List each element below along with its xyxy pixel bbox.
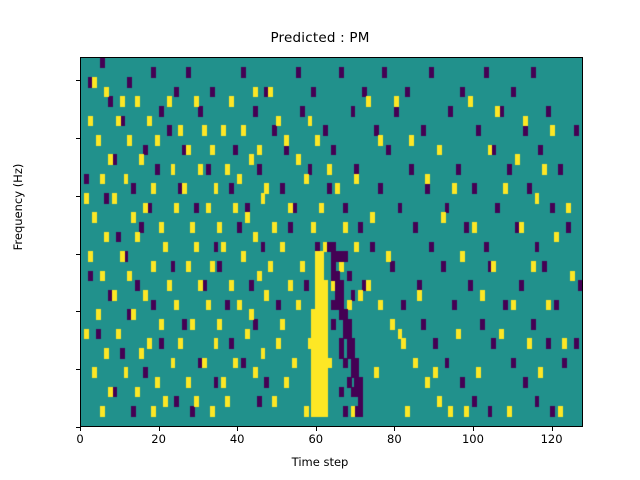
y-tick-mark (76, 196, 80, 197)
x-tick-label: 60 (286, 432, 346, 446)
x-tick-label: 0 (50, 432, 110, 446)
y-tick-mark (76, 369, 80, 370)
y-tick-mark (76, 254, 80, 255)
heatmap-image (81, 58, 582, 426)
y-axis-label: Frequency (Hz) (11, 97, 25, 317)
figure-canvas: Predicted : PM Frequency (Hz) 0200004000… (0, 0, 640, 480)
x-tick-label: 100 (443, 432, 503, 446)
y-tick-mark (76, 80, 80, 81)
x-tick-mark (80, 427, 81, 431)
y-tick-mark (76, 138, 80, 139)
x-tick-mark (237, 427, 238, 431)
x-tick-label: 40 (207, 432, 267, 446)
x-tick-mark (316, 427, 317, 431)
x-tick-mark (394, 427, 395, 431)
x-tick-mark (159, 427, 160, 431)
x-tick-mark (552, 427, 553, 431)
x-tick-label: 120 (522, 432, 582, 446)
heatmap-plot-area (80, 57, 583, 427)
x-tick-label: 80 (364, 432, 424, 446)
y-tick-mark (76, 311, 80, 312)
x-tick-mark (473, 427, 474, 431)
chart-title: Predicted : PM (0, 30, 640, 46)
x-axis-label: Time step (0, 455, 640, 469)
x-tick-label: 20 (129, 432, 189, 446)
